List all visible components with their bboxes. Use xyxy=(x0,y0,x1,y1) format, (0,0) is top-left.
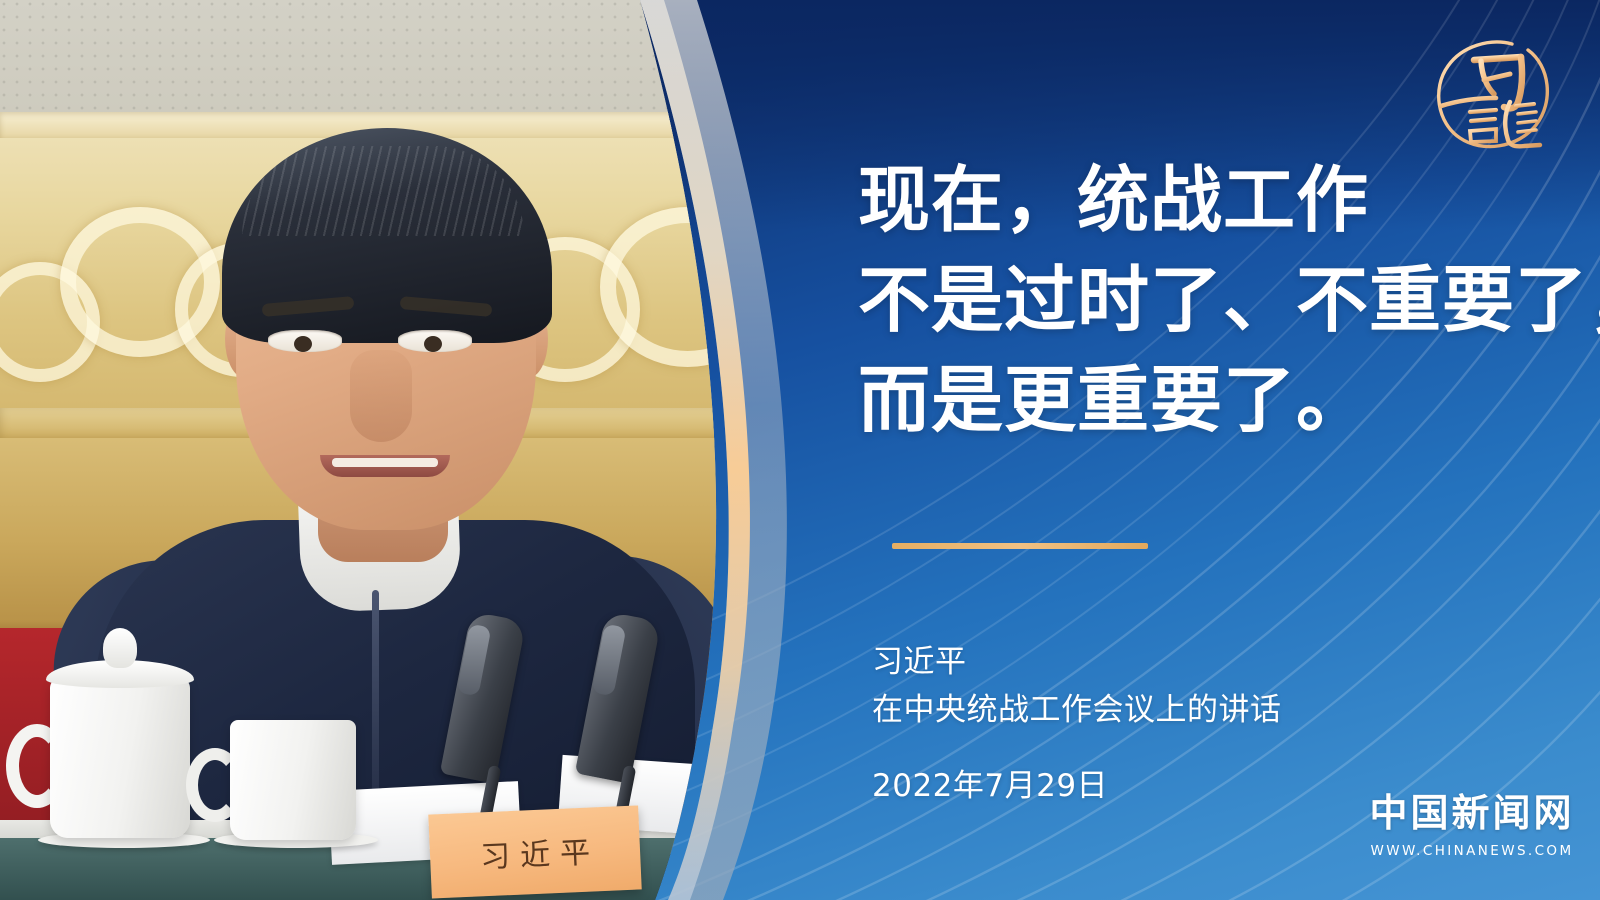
headline-line-2: 不是过时了、不重要了， xyxy=(858,250,1558,350)
frieze-scroll-motif xyxy=(600,207,775,367)
desk-nameplate: 习近平 xyxy=(428,805,641,898)
microphone xyxy=(590,615,646,780)
nameplate-text: 习近平 xyxy=(469,827,601,877)
headline-line-3: 而是更重要了。 xyxy=(858,350,1558,450)
headline-line-1: 现在，统战工作 xyxy=(858,150,1558,250)
background-wall xyxy=(0,0,800,130)
figure-mouth xyxy=(320,455,450,477)
frieze-scroll-motif xyxy=(720,262,800,382)
watermark-chinese-name: 中国新闻网 xyxy=(1366,782,1578,837)
microphone xyxy=(455,615,511,780)
figure-eye-right xyxy=(398,330,472,352)
lidded-tea-mug xyxy=(50,678,190,838)
chinanews-watermark: 中国新闻网 WWW.CHINANEWS.COM xyxy=(1366,782,1578,859)
poster-canvas: 习近平 xyxy=(0,0,1600,900)
photo-curved-clip: 习近平 xyxy=(0,0,830,900)
headline-quote: 现在，统战工作 不是过时了、不重要了， 而是更重要了。 xyxy=(858,150,1558,450)
white-teacup xyxy=(230,720,356,840)
figure-eye-left xyxy=(268,330,342,352)
figure-nose xyxy=(350,350,412,442)
photo-panel: 习近平 xyxy=(0,0,830,900)
attribution-occasion: 在中央统战工作会议上的讲话 xyxy=(872,686,1572,734)
watermark-url: WWW.CHINANEWS.COM xyxy=(1366,843,1578,859)
attribution-speaker: 习近平 xyxy=(872,638,1572,686)
meeting-photograph: 习近平 xyxy=(0,0,800,900)
mug-lid-knob xyxy=(103,628,137,668)
xi-yan-dao-seal-logo xyxy=(1424,28,1560,162)
gold-divider-rule xyxy=(892,543,1148,549)
jacket-zipper xyxy=(372,590,379,820)
